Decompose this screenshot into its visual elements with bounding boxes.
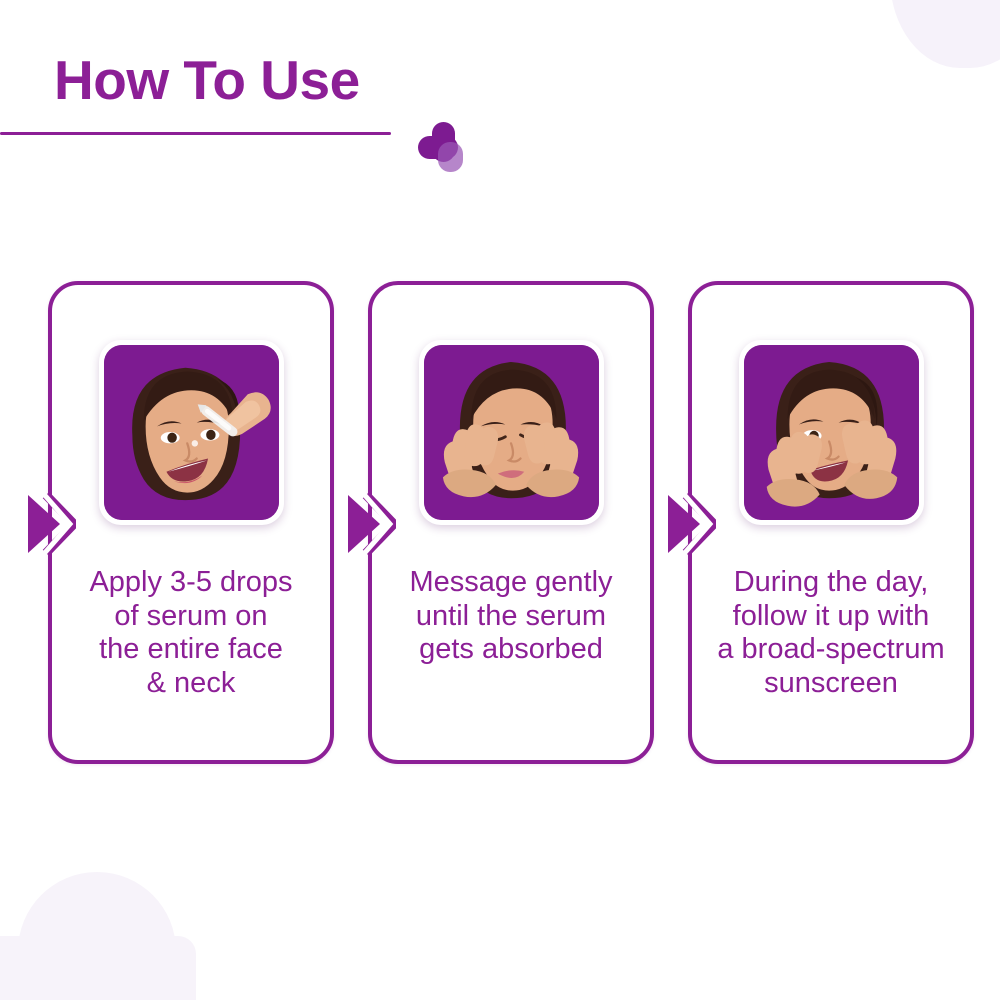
petal-accent-icon: [438, 142, 463, 172]
step-card-1[interactable]: Apply 3-5 drops of serum on the entire f…: [48, 281, 334, 764]
step-caption-2: Message gently until the serum gets abso…: [385, 566, 637, 667]
double-chevron-right-icon: [340, 489, 396, 559]
double-chevron-right-icon: [660, 489, 716, 559]
step-image-frame: [419, 340, 604, 525]
four-petal-icon: [414, 122, 468, 176]
step-image-2: [424, 345, 599, 520]
step-caption-3: During the day, follow it up with a broa…: [705, 566, 957, 701]
step-caption-1: Apply 3-5 drops of serum on the entire f…: [65, 566, 317, 701]
step-card-3[interactable]: During the day, follow it up with a broa…: [688, 281, 974, 764]
title-underline: [0, 132, 391, 135]
step-card-2[interactable]: Message gently until the serum gets abso…: [368, 281, 654, 764]
corner-band-bottom-left-icon: [0, 936, 196, 1000]
page-title: How To Use: [54, 52, 520, 110]
step-image-frame: [99, 340, 284, 525]
step-image-3: [744, 345, 919, 520]
step-image-1: [104, 345, 279, 520]
double-chevron-right-icon: [20, 489, 76, 559]
corner-blob-bottom-left-icon: [18, 872, 176, 1000]
step-image-frame: [739, 340, 924, 525]
steps-row: Apply 3-5 drops of serum on the entire f…: [0, 281, 1000, 766]
corner-blob-top-right-icon: [890, 0, 1000, 68]
